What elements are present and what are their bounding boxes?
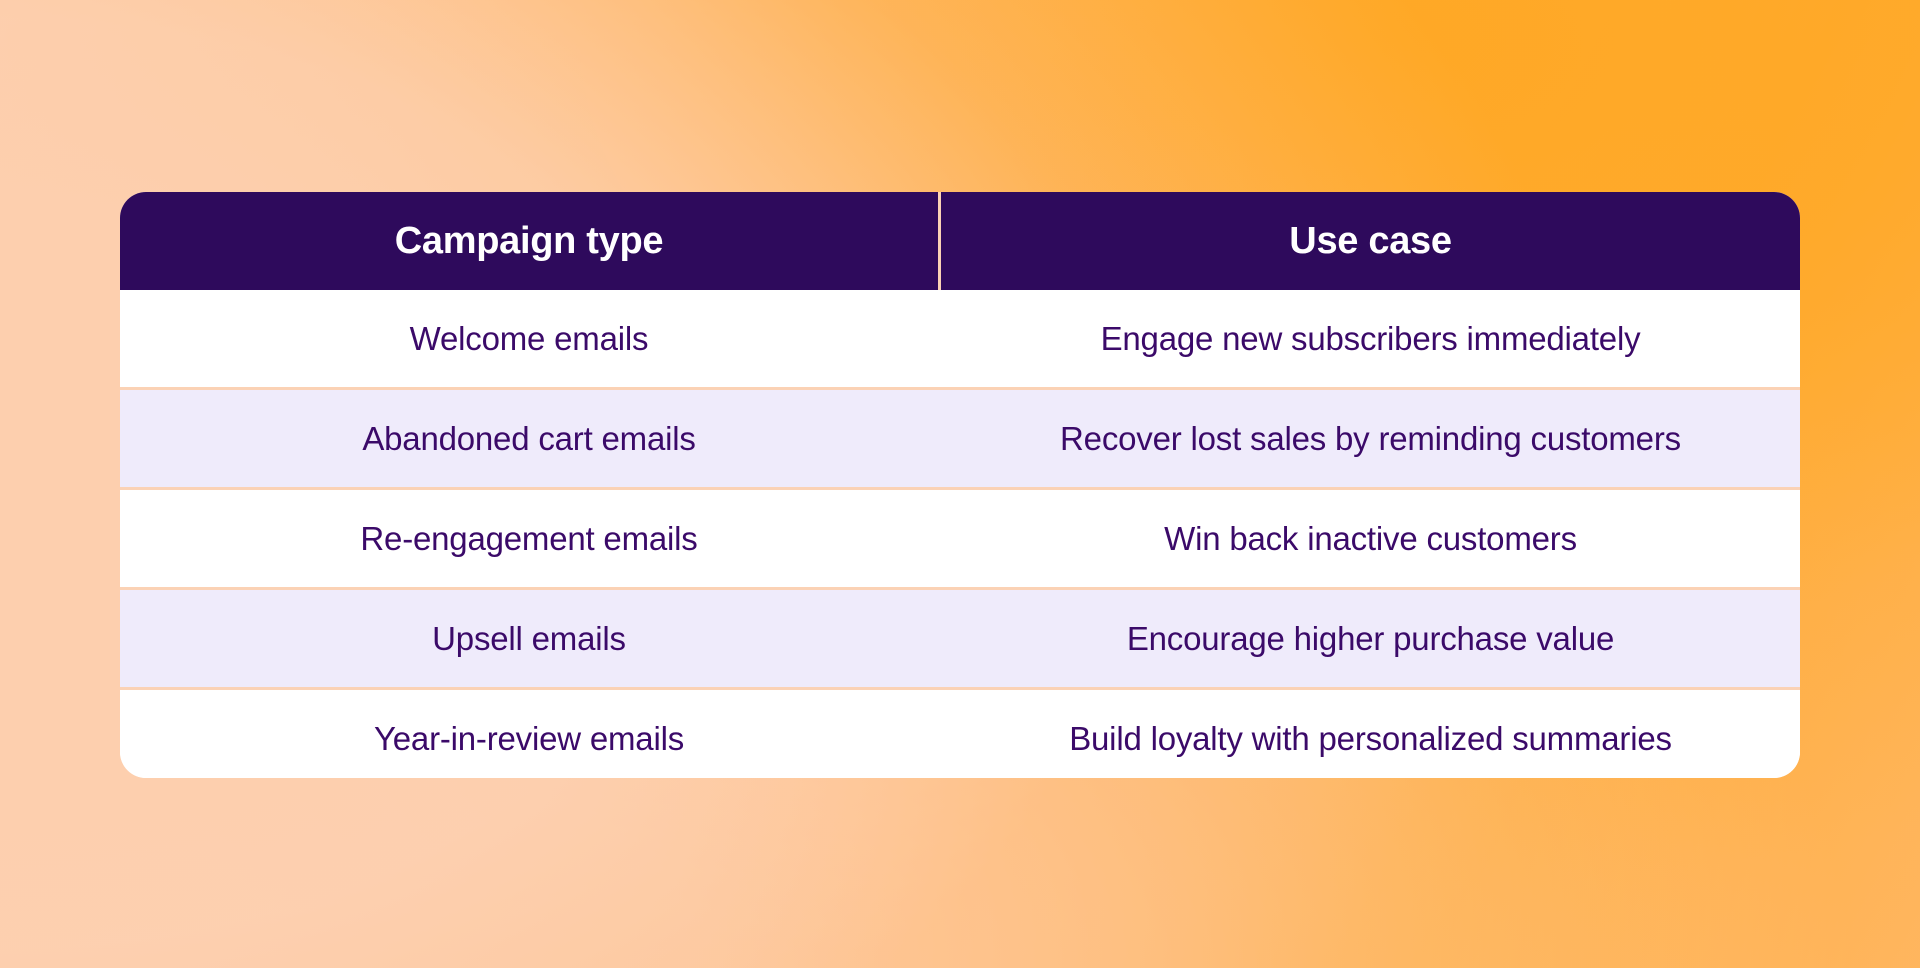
cell-use-case: Win back inactive customers bbox=[941, 490, 1800, 587]
table-grid: Campaign type Use case Welcome emails En… bbox=[120, 192, 1800, 778]
column-header-use-case: Use case bbox=[941, 192, 1800, 290]
cell-use-case-label: Win back inactive customers bbox=[1164, 520, 1577, 558]
cell-campaign-type: Re-engagement emails bbox=[120, 490, 938, 587]
cell-campaign-type-label: Upsell emails bbox=[432, 620, 626, 658]
cell-use-case-label: Encourage higher purchase value bbox=[1127, 620, 1614, 658]
cell-use-case-label: Recover lost sales by reminding customer… bbox=[1060, 420, 1681, 458]
cell-campaign-type-label: Re-engagement emails bbox=[360, 520, 697, 558]
column-header-campaign-type-label: Campaign type bbox=[395, 220, 663, 263]
cell-use-case-label: Build loyalty with personalized summarie… bbox=[1069, 720, 1672, 758]
cell-campaign-type: Year-in-review emails bbox=[120, 690, 938, 778]
cell-campaign-type: Abandoned cart emails bbox=[120, 390, 938, 487]
cell-campaign-type-label: Welcome emails bbox=[410, 320, 649, 358]
cell-use-case: Recover lost sales by reminding customer… bbox=[941, 390, 1800, 487]
cell-use-case: Encourage higher purchase value bbox=[941, 590, 1800, 687]
cell-use-case: Build loyalty with personalized summarie… bbox=[941, 690, 1800, 778]
cell-campaign-type-label: Abandoned cart emails bbox=[362, 420, 695, 458]
campaign-types-table: Campaign type Use case Welcome emails En… bbox=[120, 192, 1800, 778]
cell-campaign-type-label: Year-in-review emails bbox=[374, 720, 684, 758]
column-header-campaign-type: Campaign type bbox=[120, 192, 938, 290]
cell-campaign-type: Welcome emails bbox=[120, 290, 938, 387]
cell-use-case: Engage new subscribers immediately bbox=[941, 290, 1800, 387]
page-canvas: Campaign type Use case Welcome emails En… bbox=[0, 0, 1920, 968]
cell-use-case-label: Engage new subscribers immediately bbox=[1101, 320, 1641, 358]
cell-campaign-type: Upsell emails bbox=[120, 590, 938, 687]
column-header-use-case-label: Use case bbox=[1289, 220, 1451, 263]
